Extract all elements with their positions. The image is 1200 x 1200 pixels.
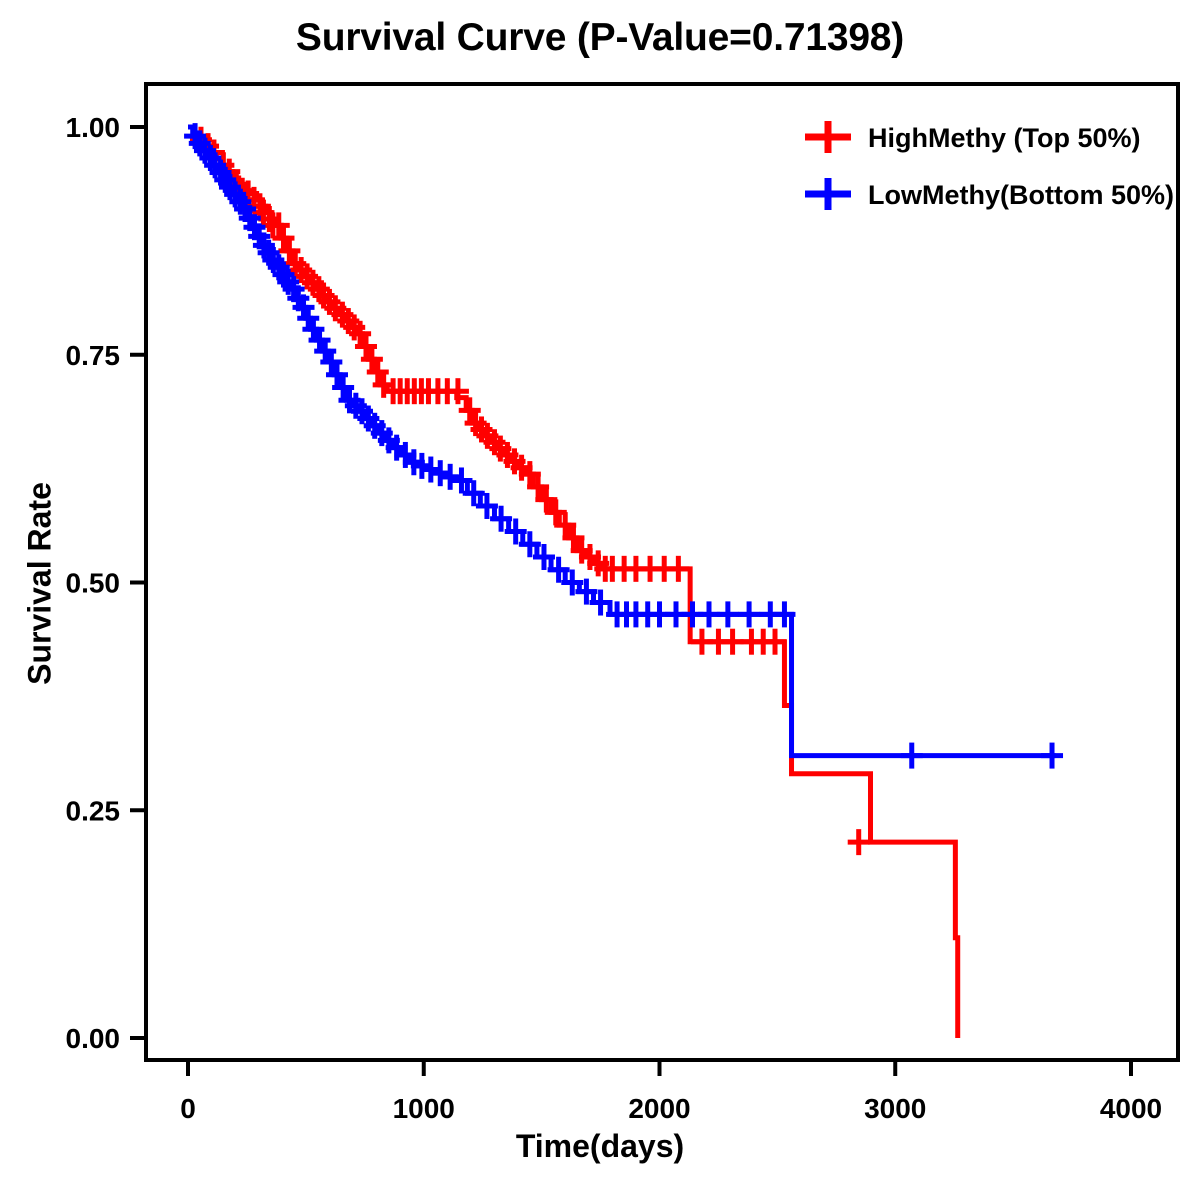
chart-legend: HighMethy (Top 50%)LowMethy(Bottom 50%) [805, 121, 1174, 210]
y-tick-label: 0.25 [66, 795, 121, 826]
x-tick-label: 1000 [393, 1093, 455, 1124]
x-tick-label: 2000 [628, 1093, 690, 1124]
legend-label: HighMethy (Top 50%) [868, 123, 1141, 153]
y-tick-label: 0.50 [66, 568, 121, 599]
series-low-methy [184, 123, 1063, 768]
y-tick-label: 0.75 [66, 340, 121, 371]
legend-item[interactable]: HighMethy (Top 50%) [805, 121, 1141, 153]
censor-marks [184, 123, 1063, 768]
series-layer [184, 123, 1063, 1038]
x-axis-label: Time(days) [0, 1128, 1200, 1165]
y-tick-label: 1.00 [66, 112, 121, 143]
x-tick-label: 3000 [864, 1093, 926, 1124]
step-line [188, 127, 1056, 756]
censor-marks [190, 127, 870, 855]
legend-label: LowMethy(Bottom 50%) [868, 180, 1174, 210]
x-axis-ticks: 01000200030004000 [180, 1060, 1162, 1124]
x-tick-label: 0 [180, 1093, 196, 1124]
x-tick-label: 4000 [1100, 1093, 1162, 1124]
plot-area: 01000200030004000 0.000.250.500.751.00 H… [0, 0, 1200, 1200]
legend-item[interactable]: LowMethy(Bottom 50%) [805, 178, 1174, 210]
y-tick-label: 0.00 [66, 1023, 121, 1054]
survival-chart-figure: Survival Curve (P-Value=0.71398) 0100020… [0, 0, 1200, 1200]
y-axis-label: Survival Rate [22, 454, 59, 714]
y-axis-ticks: 0.000.250.500.751.00 [66, 112, 147, 1054]
